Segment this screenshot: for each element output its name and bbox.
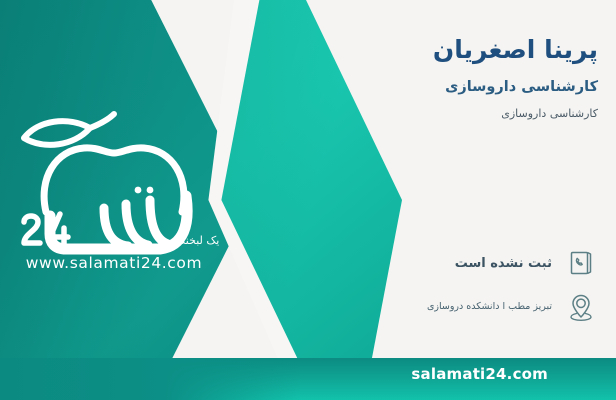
contact-phone-value: ثبت نشده است: [258, 256, 564, 271]
contact-row-address[interactable]: تبریز مطب ا دانشکده دروسازی: [258, 290, 598, 324]
logo-tagline-text: به راحتی یک لبخند: [180, 234, 220, 247]
person-specialty: کارشناسی داروسازی: [268, 79, 598, 95]
person-info: پرینا اصغریان کارشناسی داروسازی کارشناسی…: [268, 34, 598, 120]
contact-list: ثبت نشده است تبریز مطب ا دانشکده دروسازی: [258, 246, 598, 334]
contact-address-value: تبریز مطب ا دانشکده دروسازی: [258, 300, 564, 313]
person-name: پرینا اصغریان: [268, 34, 598, 65]
phone-book-icon: [564, 246, 598, 280]
location-pin-icon: [564, 290, 598, 324]
business-card: به راحتی یک لبخند www.salamati24.com پری…: [0, 0, 616, 400]
logo-url-text: www.salamati24.com: [26, 254, 202, 272]
person-specialty-sub: کارشناسی داروسازی: [268, 107, 598, 120]
contact-row-phone[interactable]: ثبت نشده است: [258, 246, 598, 280]
footer-left-gradient: [0, 358, 300, 400]
footer-site-url[interactable]: salamati24.com: [411, 365, 548, 383]
brand-logo: به راحتی یک لبخند www.salamati24.com: [8, 104, 220, 276]
footer-bar: salamati24.com: [0, 358, 616, 400]
